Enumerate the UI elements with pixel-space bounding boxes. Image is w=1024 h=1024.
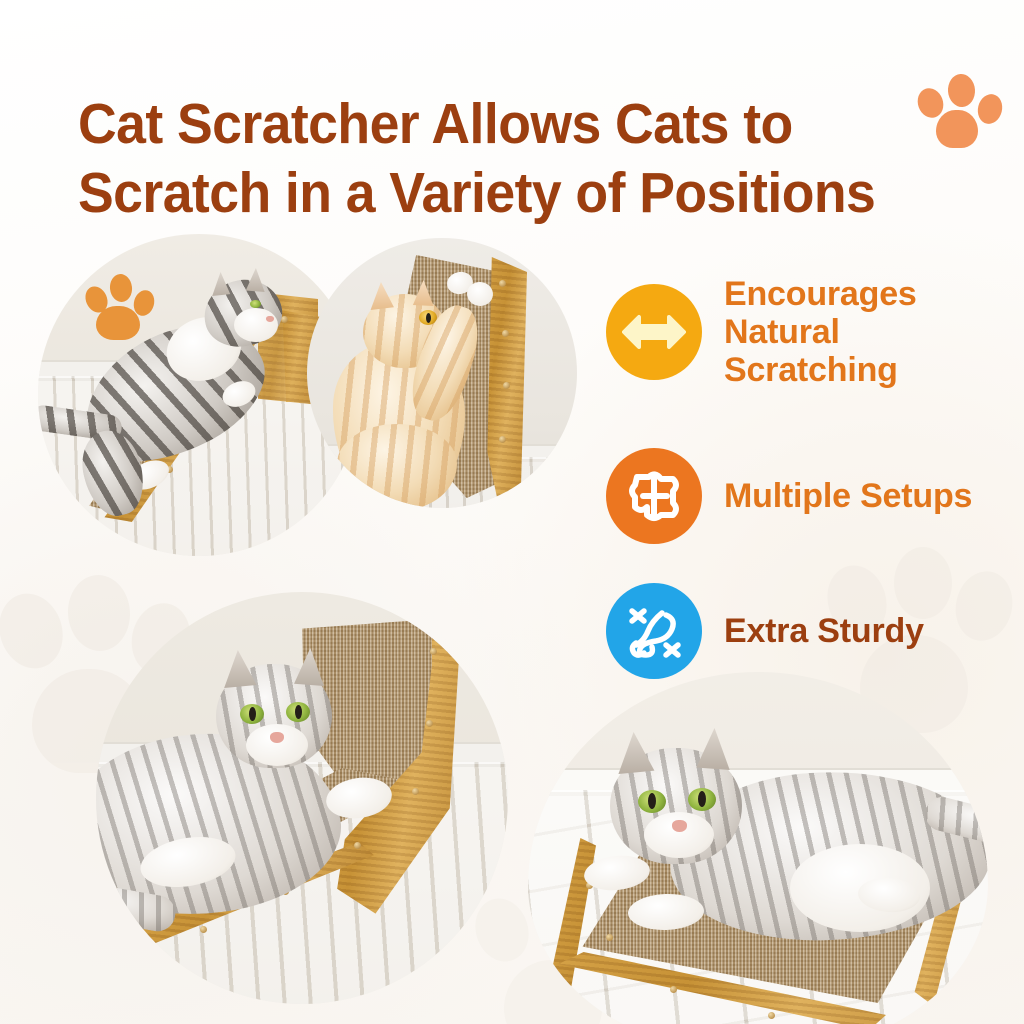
- feature-multiple-setups[interactable]: Multiple Setups: [606, 448, 972, 544]
- cat-muzzle: [644, 812, 714, 858]
- cat-pupil-right: [698, 791, 706, 807]
- cat-muzzle: [246, 724, 308, 766]
- feature-extra-sturdy[interactable]: Extra Sturdy: [606, 583, 924, 679]
- cat-eye: [250, 300, 261, 308]
- cat-pupil-left: [249, 707, 256, 721]
- cat-pupil-left: [648, 793, 656, 809]
- headline-line-1: Cat Scratcher Allows Cats to: [78, 90, 905, 159]
- headline-line-2: Scratch in a Variety of Positions: [78, 159, 905, 228]
- photo-flat-scratcher: [528, 672, 988, 1024]
- cat-nose: [270, 732, 284, 743]
- cat-pupil-right: [295, 705, 302, 719]
- cat-nose: [266, 316, 274, 322]
- modular-puzzle-icon: [623, 465, 685, 527]
- feature-icon-circle-3: [606, 583, 702, 679]
- feature-label-1: Encourages Natural Scratching: [724, 275, 917, 389]
- feature-icon-circle-1: [606, 284, 702, 380]
- cat-hind-region: [337, 424, 457, 508]
- paw-print-icon-top-right: [918, 68, 996, 146]
- double-arrow-icon: [622, 309, 686, 355]
- page-title: Cat Scratcher Allows Cats to Scratch in …: [78, 90, 905, 228]
- feature-encourages-natural-scratching[interactable]: Encourages Natural Scratching: [606, 275, 917, 389]
- cat-pupil: [426, 313, 431, 323]
- photo-vertical-scratcher: [307, 238, 577, 508]
- feature-label-2: Multiple Setups: [724, 477, 972, 515]
- feature-label-3: Extra Sturdy: [724, 612, 924, 650]
- feature-icon-circle-2: [606, 448, 702, 544]
- cat-nose: [672, 820, 687, 832]
- paw-print-icon-on-photo: [86, 272, 148, 338]
- cat-muzzle: [234, 308, 278, 342]
- photo-lounger-scratcher: [96, 592, 508, 1004]
- product-infographic: Cat Scratcher Allows Cats to Scratch in …: [0, 0, 1024, 1024]
- durable-flex-link-icon: [622, 599, 686, 663]
